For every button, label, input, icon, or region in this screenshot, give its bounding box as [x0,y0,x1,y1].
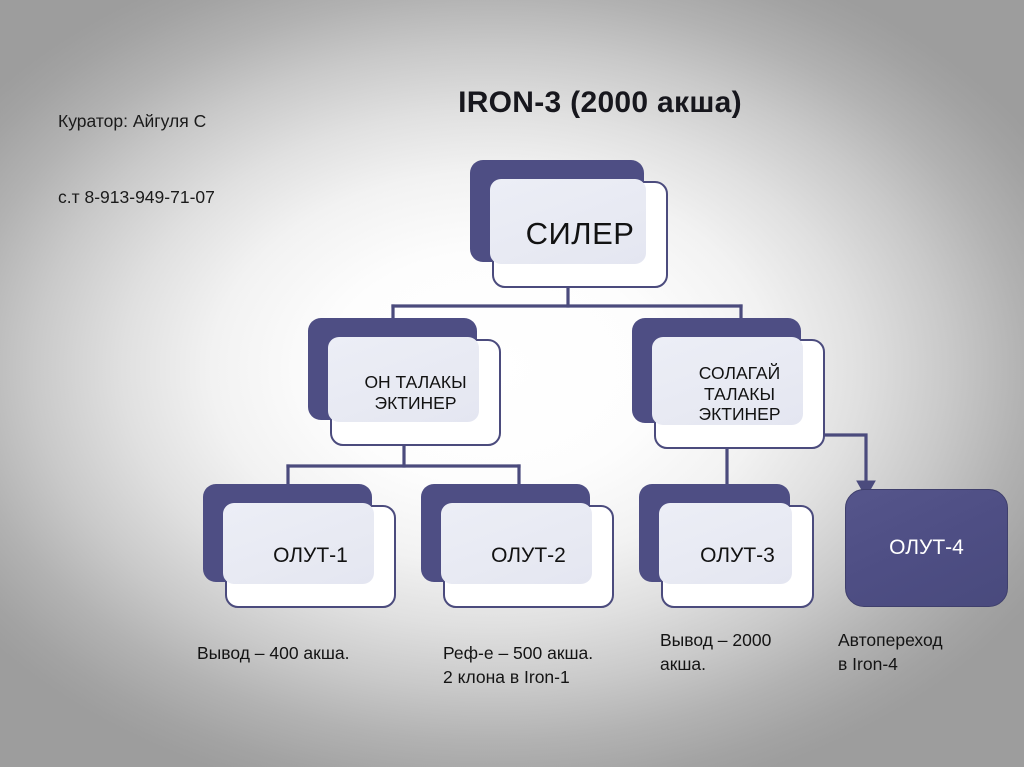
org-node-label: ОЛУТ-3 [661,505,814,608]
org-node-label: ОЛУТ-1 [225,505,396,608]
curator-contact-block: Куратор: Айгуля С с.т 8-913-949-71-07 [58,58,215,261]
org-node-label: ОН ТАЛАКЫ ЭКТИНЕР [330,339,501,446]
connector-elbow-olut-4 [825,435,866,487]
org-node-solagay[interactable]: СОЛАГАЙ ТАЛАКЫ ЭКТИНЕР [632,318,825,449]
caption-olut-2: Реф-е – 500 акша. 2 клона в Iron-1 [443,641,653,689]
caption-olut-4: Автопереход в Iron-4 [838,628,1018,676]
org-node-siler[interactable]: СИЛЕР [470,160,668,288]
org-node-label: ОЛУТ-4 [889,536,964,560]
org-node-olut-3[interactable]: ОЛУТ-3 [639,484,814,608]
org-node-label: СОЛАГАЙ ТАЛАКЫ ЭКТИНЕР [654,339,825,449]
caption-olut-1: Вывод – 400 акша. [197,641,427,665]
org-node-on-talaky[interactable]: ОН ТАЛАКЫ ЭКТИНЕР [308,318,501,446]
slide-canvas: Куратор: Айгуля С с.т 8-913-949-71-07 IR… [0,0,1024,767]
caption-olut-3: Вывод – 2000 акша. [660,628,825,676]
org-node-olut-1[interactable]: ОЛУТ-1 [203,484,396,608]
org-node-label: ОЛУТ-2 [443,505,614,608]
curator-name: Куратор: Айгуля С [58,109,215,134]
curator-phone: с.т 8-913-949-71-07 [58,185,215,210]
org-node-olut-2[interactable]: ОЛУТ-2 [421,484,614,608]
page-title: IRON-3 (2000 акша) [300,86,900,120]
org-node-olut-4[interactable]: ОЛУТ-4 [845,489,1008,607]
org-node-label: СИЛЕР [492,181,668,288]
